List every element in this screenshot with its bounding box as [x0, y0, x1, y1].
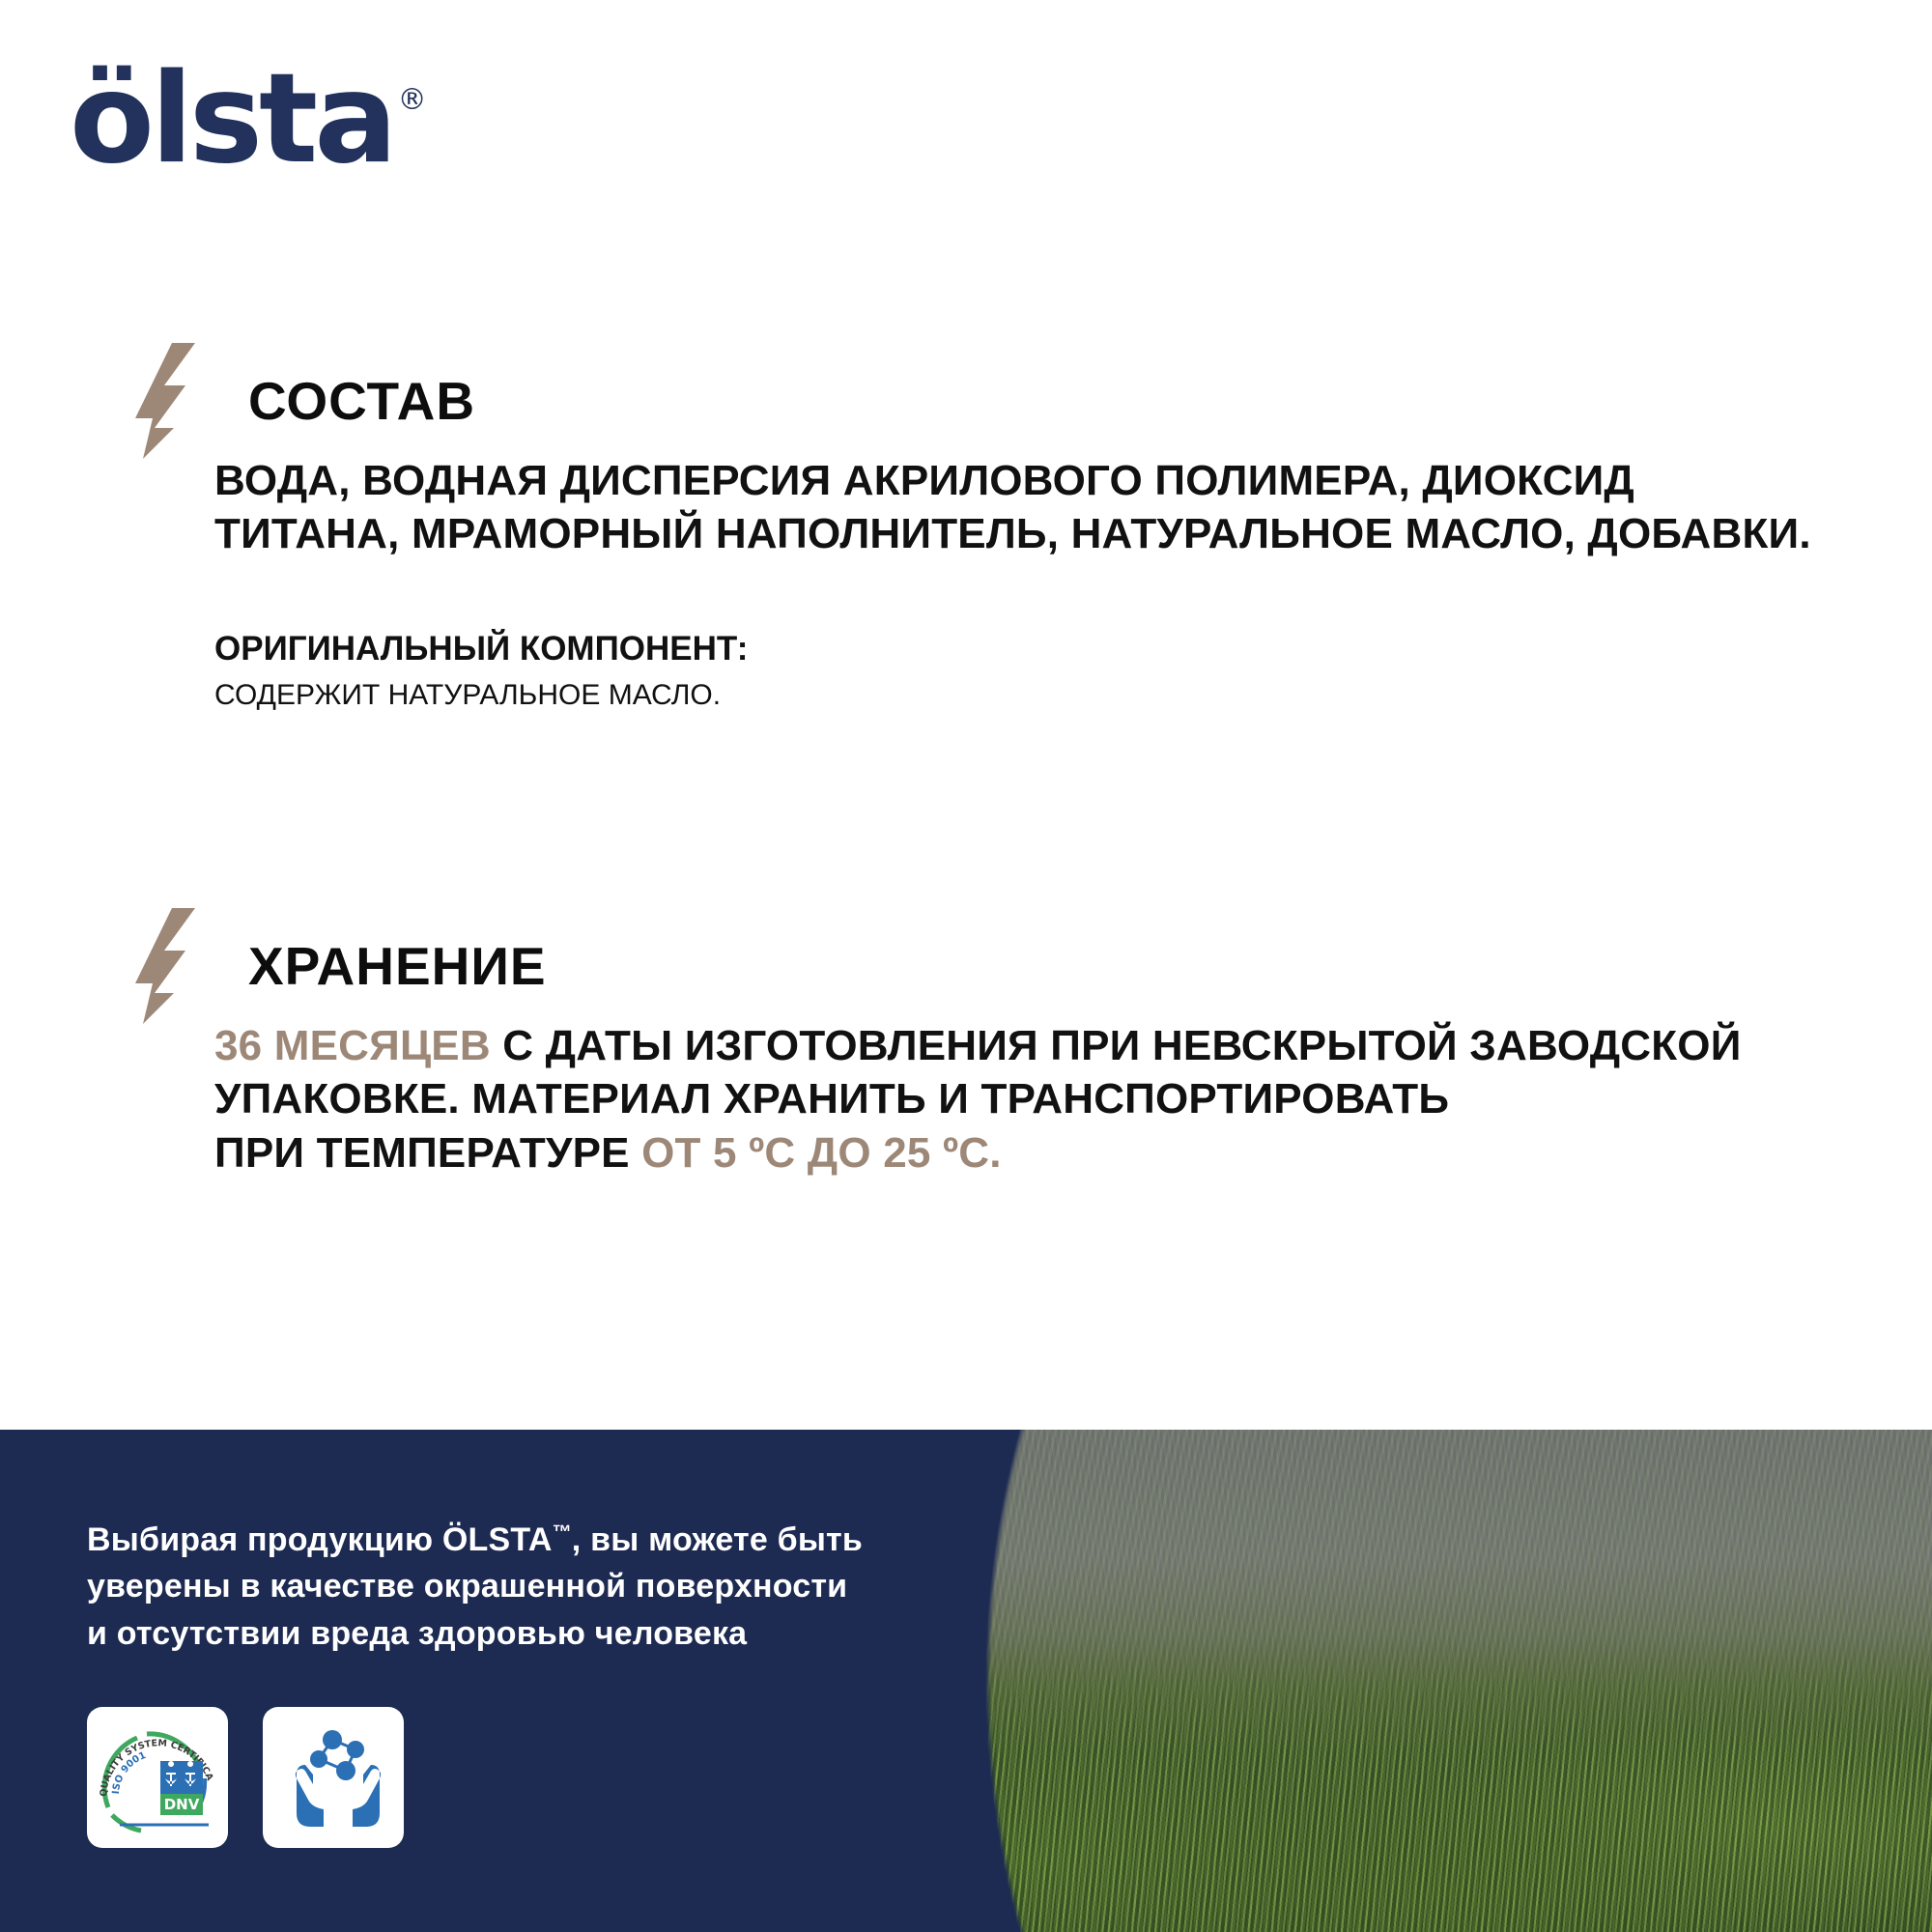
section-composition-body: ВОДА, ВОДНАЯ ДИСПЕРСИЯ АКРИЛОВОГО ПОЛИМЕ… — [0, 454, 1932, 713]
trademark-icon: ™ — [553, 1522, 572, 1544]
footer-claim-line1: Выбирая продукцию ÖLSTA — [87, 1521, 553, 1558]
original-component-text: СОДЕРЖИТ НАТУРАЛЬНОЕ МАСЛО. — [214, 677, 1826, 714]
storage-duration-highlight: 36 МЕСЯЦЕВ — [214, 1022, 491, 1069]
registered-trademark-icon: ® — [398, 83, 427, 117]
section-storage-header: ХРАНЕНИЕ — [0, 913, 1932, 1019]
storage-temperature-prefix: ПРИ ТЕМПЕРАТУРЕ — [214, 1129, 641, 1177]
footer-claim-line3: и отсутствии вреда здоровью человека — [87, 1615, 747, 1652]
storage-temperature-line: ПРИ ТЕМПЕРАТУРЕ ОТ 5 ºC ДО 25 ºC. — [214, 1126, 1826, 1179]
section-storage: ХРАНЕНИЕ 36 МЕСЯЦЕВ С ДАТЫ ИЗГОТОВЛЕНИЯ … — [0, 913, 1932, 1179]
original-component-heading: ОРИГИНАЛЬНЫЙ КОМПОНЕНТ: — [214, 629, 1826, 669]
footer-claim-text: Выбирая продукцию ÖLSTA™, вы можете быть… — [87, 1517, 1014, 1657]
brand-logo: ölsta ® — [70, 58, 427, 182]
brand-logo-text: ölsta — [70, 58, 394, 182]
footer-banner: Выбирая продукцию ÖLSTA™, вы можете быть… — [0, 1430, 1932, 1932]
storage-paragraph: 36 МЕСЯЦЕВ С ДАТЫ ИЗГОТОВЛЕНИЯ ПРИ НЕВСК… — [214, 1019, 1826, 1126]
footer-claim-line2: уверены в качестве окрашенной поверхност… — [87, 1568, 847, 1605]
footer-content: Выбирая продукцию ÖLSTA™, вы можете быть… — [87, 1430, 1014, 1932]
lightning-bolt-icon — [135, 908, 195, 1024]
composition-paragraph: ВОДА, ВОДНАЯ ДИСПЕРСИЯ АКРИЛОВОГО ПОЛИМЕ… — [214, 454, 1826, 561]
lightning-bolt-icon — [135, 343, 195, 459]
section-storage-body: 36 МЕСЯЦЕВ С ДАТЫ ИЗГОТОВЛЕНИЯ ПРИ НЕВСК… — [0, 1019, 1932, 1179]
section-storage-title: ХРАНЕНИЕ — [248, 940, 547, 993]
hands-holding-molecules-icon — [263, 1707, 404, 1848]
storage-temperature-highlight: ОТ 5 ºC ДО 25 ºC. — [641, 1129, 1002, 1177]
dnv-iso-9001-icon: QUALITY SYSTEM CERTIFICATION ISO 9001 DN… — [87, 1707, 228, 1848]
section-composition: СОСТАВ ВОДА, ВОДНАЯ ДИСПЕРСИЯ АКРИЛОВОГО… — [0, 348, 1932, 713]
svg-text:DNV: DNV — [164, 1796, 200, 1813]
footer-claim-line1-tail: , вы можете быть — [572, 1521, 863, 1558]
eco-safety-hands-badge — [263, 1707, 404, 1848]
section-composition-title: СОСТАВ — [248, 375, 475, 428]
certification-badges: QUALITY SYSTEM CERTIFICATION ISO 9001 DN… — [87, 1707, 1014, 1848]
section-composition-header: СОСТАВ — [0, 348, 1932, 454]
dnv-iso-9001-badge: QUALITY SYSTEM CERTIFICATION ISO 9001 DN… — [87, 1707, 228, 1848]
